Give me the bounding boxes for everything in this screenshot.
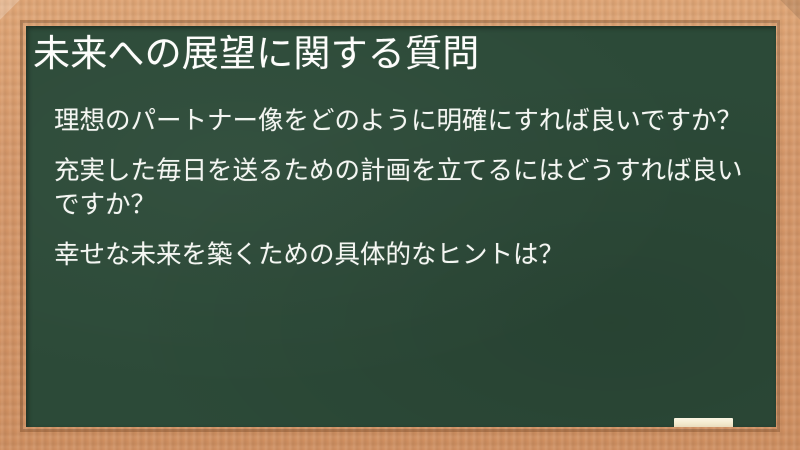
- chalk-stick-icon: [674, 418, 733, 427]
- question-item: 充実した毎日を送るための計画を立てるにはどうすれば良いですか？: [54, 154, 746, 223]
- chalkboard-slide: 未来への展望に関する質問 理想のパートナー像をどのように明確にすれば良いですか？…: [0, 0, 800, 450]
- chalkboard-surface: 未来への展望に関する質問 理想のパートナー像をどのように明確にすれば良いですか？…: [26, 26, 776, 427]
- slide-title: 未来への展望に関する質問: [33, 30, 768, 78]
- question-item: 理想のパートナー像をどのように明確にすれば良いですか？: [54, 104, 746, 139]
- question-item: 幸せな未来を築くための具体的なヒントは？: [54, 238, 746, 273]
- question-list: 理想のパートナー像をどのように明確にすれば良いですか？ 充実した毎日を送るための…: [54, 104, 746, 273]
